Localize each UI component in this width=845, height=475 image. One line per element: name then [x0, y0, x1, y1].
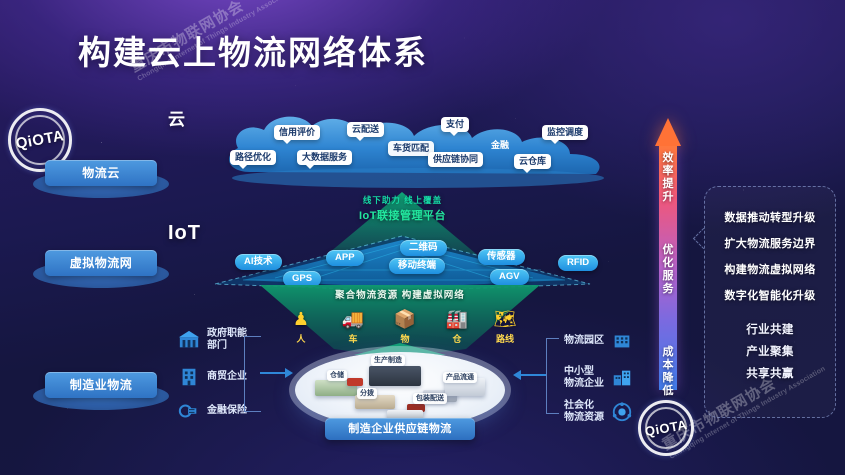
actor-sme-logistics[interactable]: 中小型 物流企业	[564, 366, 633, 389]
cloud-services-group: 路径优化 信用评价 大数据服务 云配送 车货匹配 支付 供应链协同 金融 云仓库…	[222, 112, 622, 190]
service-tag[interactable]: 供应链协同	[428, 152, 483, 167]
right-flow-arrow	[520, 374, 546, 376]
stage-pill-label: 物流云	[45, 160, 157, 186]
scene-label[interactable]: 生产制造	[371, 355, 405, 366]
slide-canvas: 构建云上物流网络体系 重庆市物联网协会 Chongqing Internet o…	[0, 0, 845, 475]
outcome-sub-item: 共享共赢	[705, 365, 835, 381]
value-label-efficiency: 效率提升	[661, 152, 675, 204]
iot-chip[interactable]: APP	[326, 250, 364, 266]
layer-label-cloud: 云	[168, 105, 187, 130]
supply-chain-caption: 制造企业供应链物流	[325, 418, 475, 440]
value-label-cost: 成本降低	[661, 346, 675, 398]
right-bracket	[546, 338, 559, 414]
page-title: 构建云上物流网络体系	[78, 26, 428, 74]
resource-label: 物	[382, 332, 428, 345]
iot-chip[interactable]: 传感器	[478, 249, 525, 265]
truck-red-a	[347, 378, 363, 386]
actor-label: 中小型 物流企业	[564, 366, 604, 389]
scene-label[interactable]: 包装配送	[413, 393, 447, 404]
iot-platform-name: IoT联接管理平台	[175, 207, 630, 223]
iot-chip[interactable]: AI技术	[235, 254, 282, 270]
handshake-icon	[178, 400, 200, 422]
left-flow-arrow	[260, 372, 286, 374]
resource-label: 路线	[482, 332, 528, 345]
actor-label: 金融保险	[207, 405, 247, 417]
park-icon	[611, 330, 633, 352]
resource-item-vehicle[interactable]: 🚚 车	[330, 307, 376, 345]
supply-chain-scene: 仓储 生产制造 分拨 包装配送 产品流通	[295, 352, 505, 428]
outcome-sub-item: 行业共建	[705, 321, 835, 337]
stage-pill-label: 制造业物流	[45, 372, 157, 398]
package-icon: 📦	[382, 307, 428, 331]
value-label-service: 优化服务	[661, 244, 675, 296]
iot-chip[interactable]: AGV	[490, 269, 529, 285]
service-tag[interactable]: 车货匹配	[388, 141, 434, 156]
resource-title: 聚合物流资源 构建虚拟网络	[250, 287, 550, 301]
resource-item-warehouse[interactable]: 🏭 仓	[434, 307, 480, 345]
actor-label: 社会化 物流资源	[564, 400, 604, 423]
actor-logistics-park[interactable]: 物流园区	[564, 330, 633, 352]
network-icon	[611, 401, 633, 423]
iot-chip[interactable]: 移动终端	[389, 258, 445, 274]
building-icon	[178, 366, 200, 388]
warehouse-icon: 🏭	[434, 307, 480, 331]
outcome-item: 构建物流虚拟网络	[705, 261, 835, 277]
resource-item-goods[interactable]: 📦 物	[382, 307, 428, 345]
left-actor-list: 政府职能 部门 商贸企业 金融保险	[178, 328, 288, 428]
factory-block	[369, 366, 421, 386]
arrow-head-icon	[655, 118, 681, 146]
scene-label[interactable]: 仓储	[327, 370, 347, 381]
service-tag[interactable]: 支付	[441, 117, 469, 132]
route-icon: 🗺	[482, 307, 528, 331]
actor-government[interactable]: 政府职能 部门	[178, 328, 247, 351]
scene-label[interactable]: 分拨	[357, 388, 377, 399]
iot-tagline: 线下助力 线上覆盖	[175, 194, 630, 206]
outcome-item: 数据推动转型升级	[705, 209, 835, 225]
outcome-item: 数字化智能化升级	[705, 287, 835, 303]
actor-social-resources[interactable]: 社会化 物流资源	[564, 400, 633, 423]
service-tag[interactable]: 监控调度	[542, 125, 588, 140]
actor-label: 商贸企业	[207, 371, 247, 383]
outcomes-panel: 数据推动转型升级 扩大物流服务边界 构建物流虚拟网络 数字化智能化升级 行业共建…	[704, 186, 836, 418]
service-tag[interactable]: 云配送	[347, 122, 384, 137]
scene-label[interactable]: 产品流通	[443, 372, 477, 383]
service-tag[interactable]: 路径优化	[230, 150, 276, 165]
iot-chip[interactable]: RFID	[558, 255, 598, 271]
stage-pill-manufacturing-logistics[interactable]: 制造业物流	[45, 372, 157, 398]
actor-finance-insurance[interactable]: 金融保险	[178, 400, 247, 422]
iot-chip[interactable]: 二维码	[400, 240, 447, 256]
service-tag[interactable]: 信用评价	[274, 125, 320, 140]
service-tag[interactable]: 大数据服务	[297, 150, 352, 165]
resource-label: 仓	[434, 332, 480, 345]
resource-aggregation-group: 聚合物流资源 构建虚拟网络 ♟ 人 🚚 车 📦 物 🏭 仓 🗺 路线	[250, 285, 550, 355]
actor-label: 政府职能 部门	[207, 328, 247, 351]
stage-pill-virtual-network[interactable]: 虚拟物流网	[45, 250, 157, 276]
resource-label: 车	[330, 332, 376, 345]
iot-layer-group: 线下助力 线上覆盖 IoT联接管理平台 AI技术 GPS APP 二维码 移动终…	[175, 192, 630, 292]
left-bracket	[244, 336, 261, 412]
service-tag[interactable]: 金融	[486, 138, 514, 153]
outcome-item: 扩大物流服务边界	[705, 235, 835, 251]
office-icon	[611, 367, 633, 389]
resource-item-route[interactable]: 🗺 路线	[482, 307, 528, 345]
government-icon	[178, 329, 200, 351]
actor-trade-enterprise[interactable]: 商贸企业	[178, 366, 247, 388]
truck-icon: 🚚	[330, 307, 376, 331]
service-tag[interactable]: 云仓库	[514, 154, 551, 169]
stage-pill-label: 虚拟物流网	[45, 250, 157, 276]
stage-pill-logistics-cloud[interactable]: 物流云	[45, 160, 157, 186]
outcome-sub-item: 产业聚集	[705, 343, 835, 359]
actor-label: 物流园区	[564, 335, 604, 347]
value-arrow: 效率提升 优化服务 成本降低	[655, 118, 681, 390]
